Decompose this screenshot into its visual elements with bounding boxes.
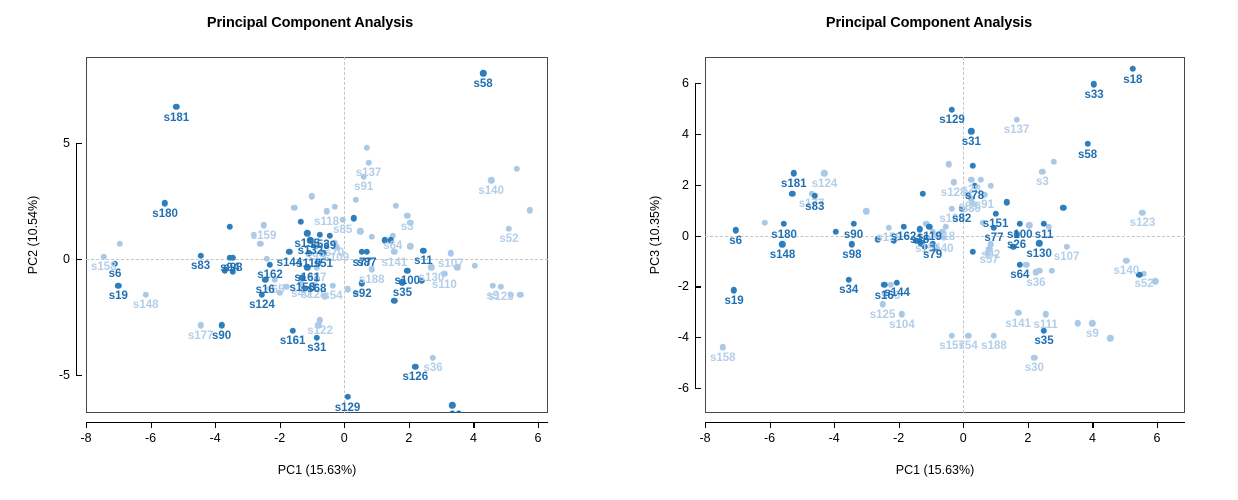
data-point-label: s6 [729,236,742,248]
data-point [323,208,329,214]
data-point-label: s162 [257,270,283,282]
data-point-label: s83 [191,261,210,273]
x-axis-tick [899,422,900,428]
x-axis-tick-label: 0 [341,431,348,445]
data-point-label: s148 [770,250,796,262]
data-point [327,233,333,239]
data-point-label: s158 [710,353,736,365]
data-point [845,277,851,283]
data-point [791,170,797,176]
data-point-label: s18 [1123,75,1142,87]
data-point-label: s64 [1010,270,1029,282]
data-point-label: s31 [307,343,326,355]
data-point-label: s31 [962,137,981,149]
data-point [779,241,785,247]
y-axis-tick-label: 5 [36,136,70,150]
data-point [420,248,426,254]
data-point [527,207,533,213]
data-point-label: s137 [356,168,382,180]
data-point-label: s181 [781,179,807,191]
data-point-label: s180 [152,209,178,221]
data-point-label: s140 [1114,266,1140,278]
data-point-label: s91 [354,182,373,194]
data-point [472,263,478,269]
y-axis-title: PC3 (10.35%) [648,196,662,275]
y-axis-tick-label: 6 [655,76,689,90]
data-point-label: s34 [839,285,858,297]
x-axis-tick [86,422,87,428]
data-point [498,284,504,290]
panel-title: Principal Component Analysis [620,15,1238,31]
data-point [849,241,855,247]
data-point [260,222,266,228]
data-point-label: s16 [256,285,275,297]
data-point [968,128,974,134]
data-point-label: s83 [805,202,824,214]
y-axis-tick-label: 0 [36,252,70,266]
data-point [364,144,370,150]
x-axis-tick [151,422,152,428]
data-point [365,160,371,166]
data-point [1026,222,1032,228]
y-axis-tick-label: -2 [655,279,689,293]
data-point-label: s33 [443,411,462,413]
data-point [1089,320,1095,326]
data-point [351,215,357,221]
data-point-label: s129 [335,403,361,413]
data-point-label: s151 [983,219,1009,231]
data-point [344,286,350,292]
data-point-label: s51 [314,259,333,271]
data-point [407,243,413,249]
data-point-label: s52 [499,234,518,246]
x-axis-tick-label: 2 [1024,431,1031,445]
x-axis-tick-label: -8 [80,431,91,445]
x-axis-tick-label: -6 [764,431,775,445]
data-point [218,322,224,328]
x-axis-tick-label: 2 [405,431,412,445]
data-point [1139,209,1145,215]
data-point [970,249,976,255]
data-point [991,333,997,339]
data-point [1023,262,1029,268]
data-point [899,311,905,317]
data-point [720,344,726,350]
x-axis-tick-label: 6 [535,431,542,445]
data-point-label: s6 [109,269,122,281]
data-point [920,190,926,196]
data-point [1123,258,1129,264]
y-axis-tick [695,337,701,338]
data-point [289,328,295,334]
data-point [448,250,454,256]
x-axis-tick-label: 4 [1089,431,1096,445]
x-axis-title: PC1 (15.63%) [896,463,975,477]
data-point [1075,320,1081,326]
x-axis-tick [963,422,964,428]
x-axis-tick [1092,422,1093,428]
data-point [488,177,494,183]
data-point-label: s111 [1033,320,1057,332]
data-point-label: s181 [164,113,190,125]
data-point-label: s11 [1035,230,1054,242]
data-point-label: s122 [307,326,333,338]
data-point [291,205,297,211]
data-point-label: s124 [249,300,275,312]
data-point [490,282,496,288]
data-point [331,204,337,210]
y-axis-tick-label: 2 [655,178,689,192]
data-point-label: s9 [323,241,336,253]
x-axis-tick [1157,422,1158,428]
data-point [1063,244,1069,250]
x-axis-tick [834,422,835,428]
data-point-label: s161 [280,336,306,348]
y-axis-tick [695,236,701,237]
x-axis-tick-label: 6 [1154,431,1161,445]
data-point-label: s35 [393,288,412,300]
data-point [1013,117,1019,123]
data-point-label: s54 [959,341,978,353]
y-axis-tick-label: 4 [655,127,689,141]
data-point-label: s87 [357,258,376,270]
data-point-label: s159 [251,231,277,243]
x-axis-title: PC1 (15.63%) [278,463,357,477]
data-point [404,213,410,219]
x-axis-tick-label: -4 [829,431,840,445]
data-point-label: s11 [414,256,433,268]
data-point [988,183,994,189]
data-point-label: s58 [474,79,493,91]
data-point-label: s85 [333,225,352,237]
plot-area: s18s33s31s137s129s58s3s181s124s128s28s17… [705,57,1185,413]
data-point [317,231,323,237]
data-point [286,249,292,255]
data-point [309,193,315,199]
data-point-label: s144 [884,288,910,300]
panel-pc1-pc3: Principal Component Analysiss18s33s31s13… [620,0,1238,500]
x-axis-tick-label: -4 [210,431,221,445]
data-point [762,220,768,226]
plot-area: s58s181s137s91s140s180s118s85s3s52s159s6… [86,57,548,413]
data-point [1033,269,1039,275]
data-point [430,354,436,360]
data-point [949,333,955,339]
data-point [480,70,486,76]
data-point-label: s148 [133,300,159,312]
x-axis-tick [409,422,410,428]
x-axis-tick [280,422,281,428]
data-point [1017,221,1023,227]
data-point [900,223,906,229]
y-axis-tick [695,286,701,287]
data-point [197,322,203,328]
data-point-label: s90 [212,331,231,343]
data-point [357,228,363,234]
x-axis-tick-label: -2 [893,431,904,445]
data-point [352,197,358,203]
data-point-label: s110 [432,280,457,292]
y-axis-tick [76,259,82,260]
data-point-label: s64 [383,241,402,253]
x-axis-tick [1028,422,1029,428]
data-point [1049,268,1055,274]
data-point [1015,310,1021,316]
data-point-label: s130 [1026,249,1052,261]
data-point [894,279,900,285]
data-point [506,226,512,232]
data-point-label: s77 [984,233,1003,245]
data-point-label: s98 [223,263,242,275]
x-axis-line [705,422,1185,423]
data-point-label: s3 [1036,177,1049,189]
data-point-label: s107 [1054,252,1080,264]
y-axis-tick [76,143,82,144]
data-point [1004,199,1010,205]
y-axis-title: PC2 (10.54%) [26,196,40,275]
data-point-label: s123 [1130,218,1156,230]
data-point-label: s124 [812,179,838,191]
data-point-label: s52 [1134,279,1153,291]
data-point [267,262,273,268]
data-point [449,402,455,408]
data-point-label: s107 [438,259,464,271]
y-axis-tick-label: -6 [655,381,689,395]
data-point [970,162,976,168]
data-point-label: s119 [917,232,942,244]
y-axis-tick [695,83,701,84]
data-point [297,219,303,225]
data-point [517,292,523,298]
data-point [115,282,121,288]
data-point [162,200,168,206]
x-axis-tick [473,422,474,428]
y-axis-tick-label: -5 [36,368,70,382]
data-point [412,364,418,370]
data-point [978,176,984,182]
data-point-label: s104 [889,320,915,332]
data-point-label: s19 [109,291,128,303]
data-point [789,190,795,196]
data-point [393,202,399,208]
data-point [781,221,787,227]
data-point [117,241,123,247]
y-axis-tick-label: -4 [655,330,689,344]
data-point [514,165,520,171]
data-point [949,106,955,112]
data-point-label: s9 [1086,329,1099,341]
data-point [731,287,737,293]
data-point-label: s177 [188,331,214,343]
data-point [833,228,839,234]
y-axis-tick [695,185,701,186]
data-point-label: s82 [952,214,971,226]
data-point [1017,262,1023,268]
x-axis-tick-label: -2 [274,431,285,445]
y-axis-tick [695,134,701,135]
data-point [732,227,738,233]
data-point-label: s78 [965,191,984,203]
data-point-label: s180 [771,230,797,242]
data-point-label: s140 [478,186,504,198]
data-point-label: s188 [981,341,1007,353]
data-point-label: s79 [923,250,942,262]
y-axis-tick [695,388,701,389]
x-axis-tick-label: 4 [470,431,477,445]
x-axis-tick-label: 0 [960,431,967,445]
x-axis-tick [344,422,345,428]
data-point-label: s35 [1034,336,1053,348]
data-point-label: s129 [939,115,965,127]
data-point [173,104,179,110]
data-point [850,221,856,227]
data-point [344,394,350,400]
x-axis-tick [705,422,706,428]
x-axis-tick-label: -6 [145,431,156,445]
data-point-label: s19 [724,296,743,308]
data-point [369,234,375,240]
data-point-label: s92 [352,289,371,301]
data-point [330,282,336,288]
data-point-label: s90 [844,230,863,242]
data-point [226,223,232,229]
data-point [1042,311,1048,317]
data-point-label: s126 [403,372,429,384]
y-axis-tick [76,375,82,376]
data-point [863,208,869,214]
data-point [1091,81,1097,87]
data-point [364,249,370,255]
pca-figure: Principal Component Analysiss58s181s137s… [0,0,1238,500]
panel-pc1-pc2: Principal Component Analysiss58s181s137s… [0,0,620,500]
data-point [197,252,203,258]
data-point [946,161,952,167]
data-point-label: s33 [1084,90,1103,102]
data-point [1031,354,1037,360]
data-point [511,412,517,413]
data-point [1107,335,1113,341]
data-point-label: s141 [1005,319,1031,331]
data-point-label: s98 [842,250,861,262]
data-point [1060,204,1066,210]
data-point-label: s68 [307,284,326,296]
data-point [304,230,310,236]
data-point [230,255,236,261]
data-point-label: s3 [401,222,414,234]
x-axis-tick-label: -8 [699,431,710,445]
data-point-label: s188 [359,275,385,287]
data-point-label: s30 [1025,363,1044,375]
data-point [1039,169,1045,175]
data-point-label: s58 [1078,150,1097,162]
data-point [143,292,149,298]
x-axis-line [86,422,548,423]
panel-title: Principal Component Analysis [0,15,620,31]
data-point-label: s57 [980,255,999,267]
x-axis-tick [538,422,539,428]
data-point-label: s141 [382,258,408,270]
data-point [317,317,323,323]
data-point [1050,159,1056,165]
data-point [1084,141,1090,147]
x-axis-tick [770,422,771,428]
data-point [1130,66,1136,72]
data-point [965,333,971,339]
data-point [821,170,827,176]
data-point-label: s137 [1004,125,1030,137]
data-point [950,179,956,185]
data-point-label: s26 [1007,240,1026,252]
x-axis-tick [215,422,216,428]
data-point-label: s9 [486,291,499,303]
data-point [949,206,955,212]
